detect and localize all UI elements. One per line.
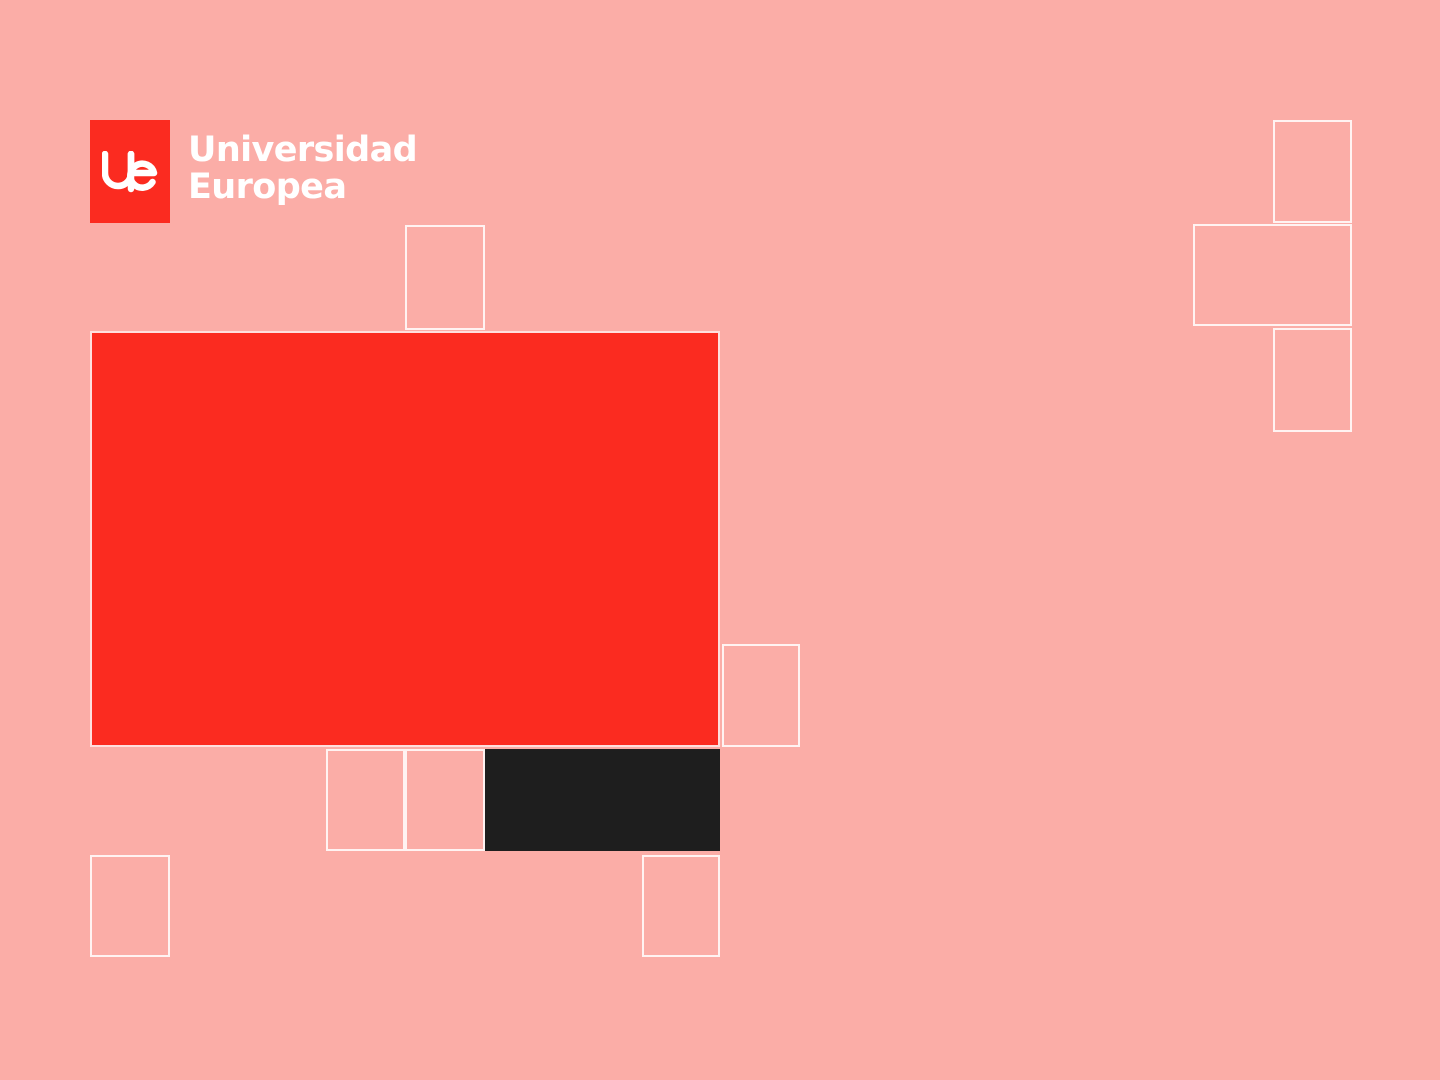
brand-wordmark-line-2: Europea — [188, 169, 417, 206]
grid-cell-top-right-a — [1273, 120, 1352, 223]
ue-monogram-icon — [90, 120, 170, 223]
grid-cell-mid-right — [722, 644, 800, 747]
grid-cell-top-center — [405, 225, 485, 330]
brand-logo-lockup: Universidad Europea — [90, 120, 417, 223]
red-content-panel — [90, 331, 720, 747]
grid-cell-bottom-b — [405, 749, 485, 851]
brand-wordmark-line-1: Universidad — [188, 132, 417, 169]
dark-content-panel — [485, 749, 720, 851]
grid-cell-top-right-c — [1273, 328, 1352, 432]
slide-canvas: Universidad Europea — [0, 0, 1440, 1080]
grid-cell-top-right-b — [1193, 224, 1352, 326]
grid-cell-bottom-left — [90, 855, 170, 957]
brand-wordmark: Universidad Europea — [188, 132, 417, 206]
grid-cell-bottom-right — [642, 855, 720, 957]
grid-cell-bottom-a — [326, 749, 405, 851]
